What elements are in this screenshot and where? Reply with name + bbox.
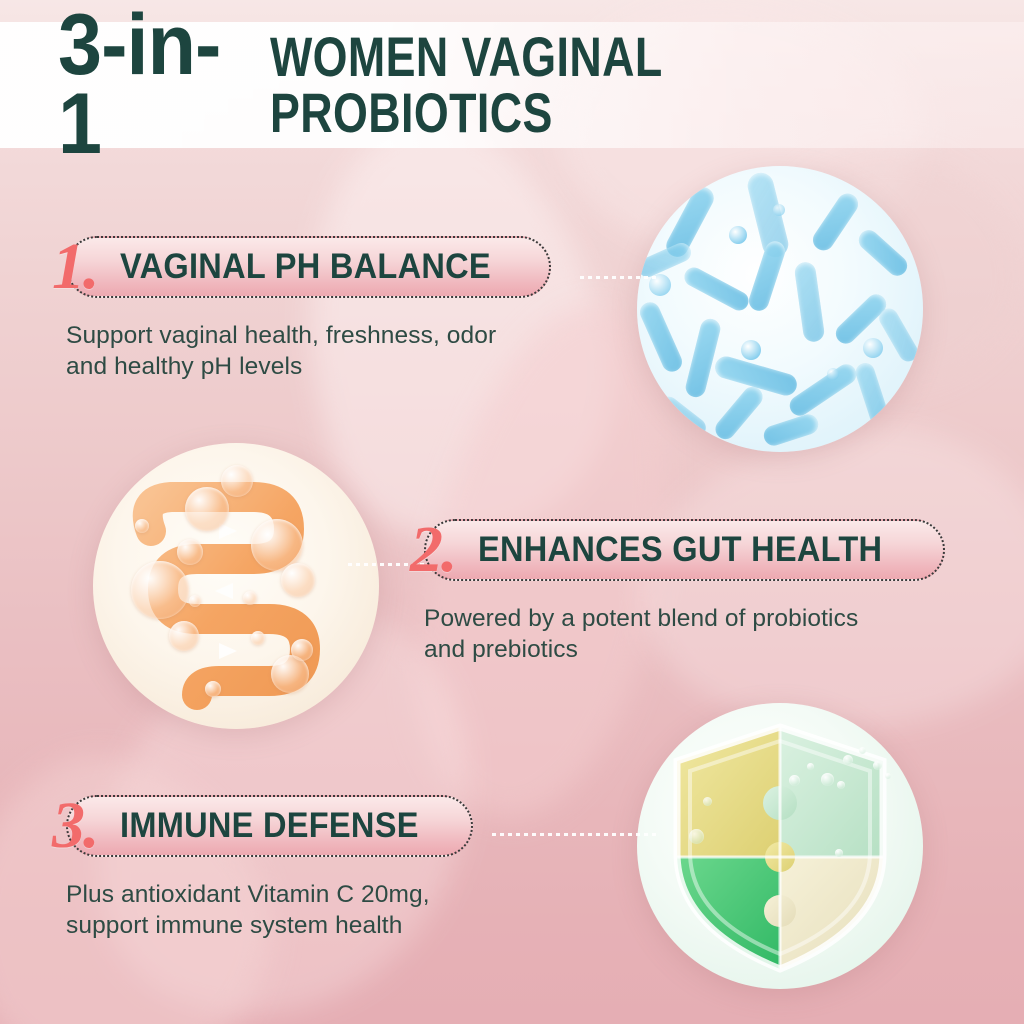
feature-number-3: 3. — [52, 793, 98, 859]
feature-badge-3[interactable]: 3. IMMUNE DEFENSE — [66, 795, 473, 857]
page-title: 3-in-1 WOMEN VAGINAL PROBIOTICS — [0, 22, 1024, 148]
title-rest: WOMEN VAGINAL PROBIOTICS — [270, 29, 873, 141]
feature-description-1: Support vaginal health, freshness, odor … — [66, 320, 551, 383]
title-highlight: 3-in-1 — [58, 6, 238, 164]
feature-number-2: 2. — [410, 517, 456, 583]
feature-badge-1[interactable]: 1. VAGINAL PH BALANCE — [66, 236, 551, 298]
feature-description-2: Powered by a potent blend of probiotics … — [424, 603, 945, 666]
shield-illustration — [637, 703, 923, 989]
feature-block-1: 1. VAGINAL PH BALANCE Support vaginal he… — [66, 236, 551, 383]
connector-line-3 — [492, 833, 656, 836]
feature-badge-2[interactable]: 2. ENHANCES GUT HEALTH — [424, 519, 945, 581]
poster-root: 3-in-1 WOMEN VAGINAL PROBIOTICS — [0, 0, 1024, 1024]
feature-title-3: IMMUNE DEFENSE — [120, 806, 419, 846]
feature-number-1: 1. — [52, 234, 98, 300]
connector-line-1 — [580, 276, 660, 279]
feature-block-2: 2. ENHANCES GUT HEALTH Powered by a pote… — [424, 519, 945, 666]
shield-puzzle-icon — [637, 703, 923, 989]
feature-block-3: 3. IMMUNE DEFENSE Plus antioxidant Vitam… — [66, 795, 473, 942]
feature-title-2: ENHANCES GUT HEALTH — [478, 530, 882, 570]
bacteria-illustration — [637, 166, 923, 452]
gut-illustration — [93, 443, 379, 729]
feature-title-1: VAGINAL PH BALANCE — [120, 247, 491, 287]
feature-description-3: Plus antioxidant Vitamin C 20mg, support… — [66, 879, 473, 942]
